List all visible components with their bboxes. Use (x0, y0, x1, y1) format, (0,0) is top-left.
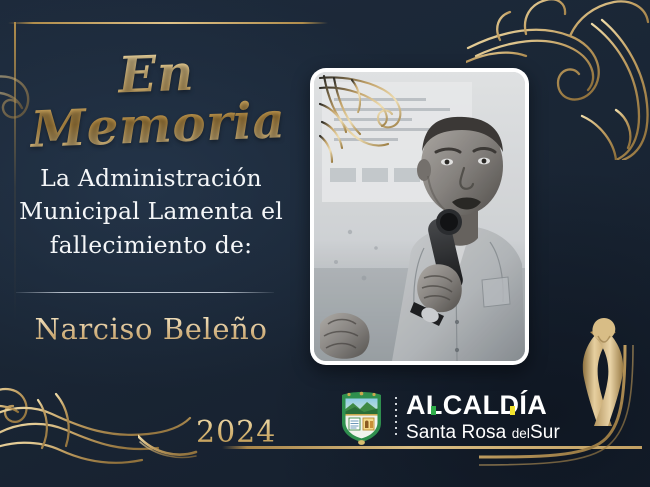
swoosh-flourish-icon (138, 432, 198, 460)
memorial-card: En Memoria La Administración Municipal L… (0, 0, 650, 487)
alcaldia-logo: ALCALDÍA Santa Rosa delSur (337, 389, 560, 445)
mourning-ribbon-icon (572, 312, 634, 428)
logo-secondary-a: Santa Rosa (406, 422, 506, 443)
portrait-image (314, 72, 525, 361)
logo-secondary-b: Sur (530, 422, 560, 443)
escudo-santa-rosa-del-sur-icon (337, 389, 386, 445)
portrait-photo (310, 68, 529, 365)
logo-divider (395, 395, 397, 439)
accent-green-mark (431, 406, 436, 415)
logo-text: ALCALDÍA Santa Rosa delSur (406, 392, 560, 442)
portrait-photo-inner (314, 72, 525, 361)
memorial-message: La Administración Municipal Lamenta el f… (8, 162, 294, 262)
bottom-gold-rule (222, 446, 642, 449)
logo-primary-label: ALCALDÍA (406, 390, 547, 420)
deceased-name: Narciso Beleño (8, 312, 294, 346)
logo-primary-text: ALCALDÍA (406, 392, 560, 419)
name-divider (16, 292, 274, 293)
page-title: En Memoria (20, 43, 294, 155)
logo-secondary-small: del (512, 426, 530, 441)
accent-yellow-mark (510, 406, 515, 415)
top-gold-rule (8, 22, 328, 24)
logo-secondary-text: Santa Rosa delSur (406, 423, 560, 442)
year-label: 2024 (196, 415, 276, 450)
